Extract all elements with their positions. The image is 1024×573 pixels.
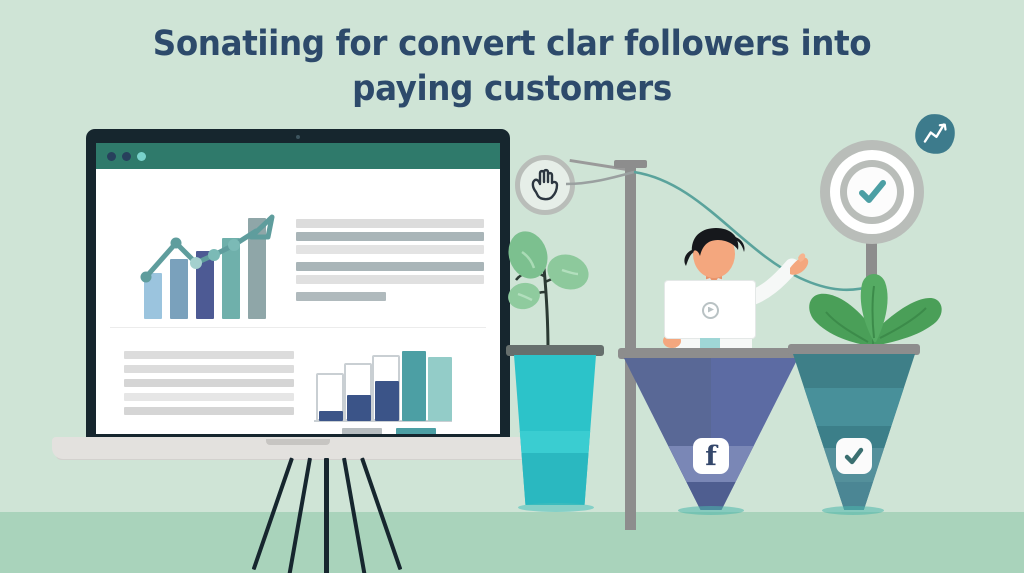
presenter-laptop <box>665 281 755 338</box>
support-pole <box>625 160 636 530</box>
fill-bar-5 <box>428 357 452 421</box>
badge-ring-mid <box>840 160 904 224</box>
check-icon <box>855 175 889 209</box>
text-line <box>124 365 294 373</box>
plant-pot-rim <box>506 345 604 356</box>
badge-ring-outer <box>830 150 914 234</box>
browser-content <box>96 169 500 434</box>
trend-arrow-line-icon <box>138 211 280 319</box>
conversion-funnel-shadow <box>822 506 884 515</box>
facebook-funnel-rim <box>618 348 804 359</box>
webcam-icon <box>296 135 300 139</box>
laptop-screen <box>96 143 500 434</box>
fill-bar-3 <box>375 381 399 421</box>
badge-ring-inner <box>847 167 897 217</box>
fill-bar-2 <box>347 395 371 421</box>
laptop-base <box>52 437 544 459</box>
pot-band <box>514 431 596 453</box>
legend-chip-1 <box>342 428 382 434</box>
browser-dot-1[interactable] <box>107 152 116 161</box>
text-line <box>296 219 484 228</box>
click-hand-badge[interactable] <box>515 155 575 215</box>
text-line <box>296 232 484 241</box>
laptop-base-notch <box>266 439 330 445</box>
facebook-icon-glyph: f <box>705 443 717 470</box>
conversion-funnel-rim <box>788 344 920 355</box>
browser-titlebar <box>96 143 500 169</box>
small-leaf-plant <box>504 222 614 352</box>
line-chart-icon <box>912 111 957 156</box>
illustration-canvas: Sonatiing for convert clar followers int… <box>0 0 1024 573</box>
text-line <box>124 393 294 401</box>
pot-shadow <box>518 503 594 512</box>
text-placeholder-block-top <box>296 219 484 305</box>
text-line <box>124 379 294 387</box>
headline-line-1: Sonatiing for convert clar followers int… <box>153 24 872 64</box>
text-line <box>296 275 484 284</box>
page-title: Sonatiing for convert clar followers int… <box>36 22 988 112</box>
text-line <box>296 292 386 301</box>
legend-chip-2 <box>396 428 436 434</box>
facebook-icon[interactable]: f <box>693 438 729 474</box>
text-placeholder-block-bottom <box>124 351 294 421</box>
fill-bar-4 <box>402 351 426 421</box>
browser-dot-3[interactable] <box>137 152 146 161</box>
text-line <box>124 351 294 359</box>
conversion-check-badge[interactable] <box>836 438 872 474</box>
laptop-lid <box>86 129 510 444</box>
fill-bar-1 <box>319 411 343 421</box>
stand-leg-3 <box>324 458 329 573</box>
facebook-funnel-shadow <box>678 506 744 515</box>
text-line <box>296 262 484 271</box>
check-icon <box>842 444 866 468</box>
analytics-blob-icon[interactable] <box>912 111 957 156</box>
hand-pointer-icon <box>520 160 570 210</box>
comparison-bar-chart <box>314 345 454 434</box>
pot-band <box>514 453 596 505</box>
growth-bar-chart <box>138 211 280 319</box>
text-line <box>296 245 484 254</box>
browser-dot-2[interactable] <box>122 152 131 161</box>
headline-line-2: paying customers <box>36 67 988 112</box>
plant-pot-cyan <box>514 355 596 505</box>
content-divider <box>110 327 486 328</box>
background-floor <box>0 512 1024 573</box>
text-line <box>124 407 294 415</box>
verified-check-badge[interactable] <box>820 140 924 244</box>
support-pole-cap <box>614 160 647 168</box>
